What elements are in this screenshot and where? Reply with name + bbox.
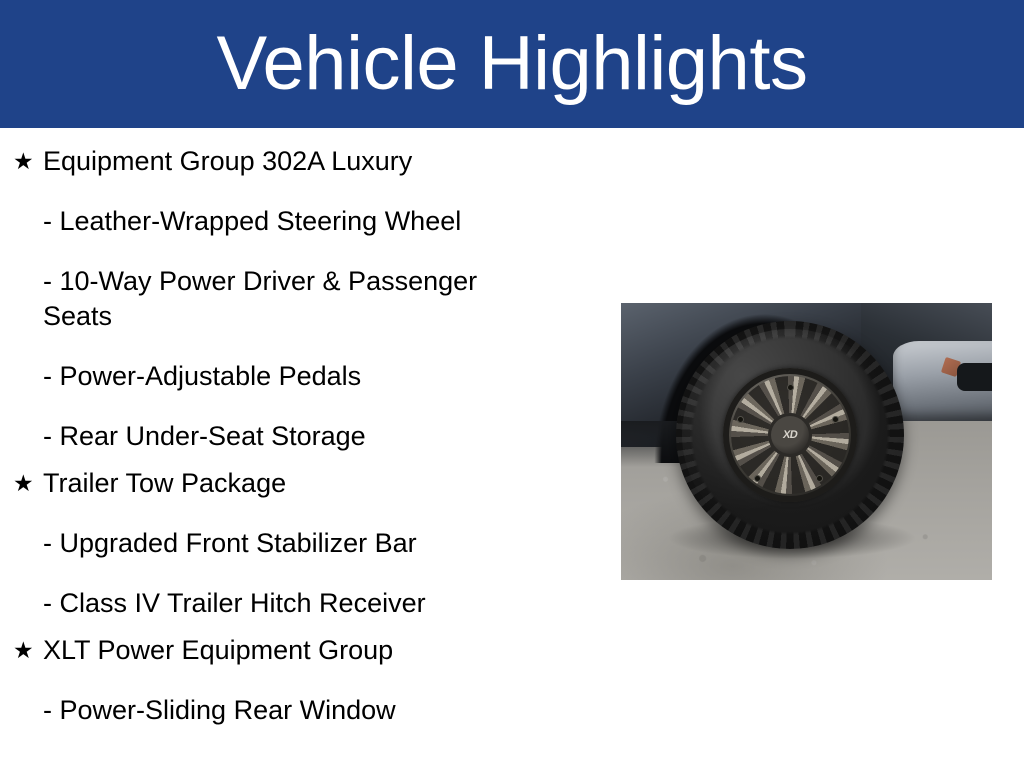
photo-content: XD (621, 303, 992, 580)
slide-canvas: Vehicle Highlights ★ Equipment Group 302… (0, 0, 1024, 768)
star-bullet-icon: ★ (13, 633, 43, 668)
list-item: - Power-Adjustable Pedals (0, 359, 575, 394)
lug-nut (787, 384, 794, 391)
list-item: ★ Equipment Group 302A Luxury (0, 144, 575, 179)
wheel-brand-logo: XD (782, 429, 798, 441)
star-bullet-icon: ★ (13, 466, 43, 501)
list-item: ★ XLT Power Equipment Group (0, 633, 575, 668)
list-item-label: - Class IV Trailer Hitch Receiver (43, 586, 541, 621)
list-item-label: - Rear Under-Seat Storage (43, 419, 541, 454)
list-item-label: XLT Power Equipment Group (43, 633, 543, 668)
list-item-label: - Power-Sliding Rear Window (43, 693, 541, 728)
list-item: - Class IV Trailer Hitch Receiver (0, 586, 575, 621)
bumper-opening (957, 363, 992, 391)
list-item-label: - Upgraded Front Stabilizer Bar (43, 526, 541, 561)
page-title: Vehicle Highlights (217, 26, 808, 102)
title-banner: Vehicle Highlights (0, 0, 1024, 128)
rim-disc: XD (723, 368, 857, 502)
vehicle-wheel-photo: XD (621, 303, 992, 580)
list-item: - Power-Sliding Rear Window (0, 693, 575, 728)
list-item: - Rear Under-Seat Storage (0, 419, 575, 454)
list-item-label: - 10-Way Power Driver & Passenger Seats (43, 264, 541, 334)
list-item-label: Trailer Tow Package (43, 466, 543, 501)
wheel-center-cap: XD (768, 413, 812, 457)
list-item-label: Equipment Group 302A Luxury (43, 144, 543, 179)
list-item-label: - Leather-Wrapped Steering Wheel (43, 204, 541, 239)
list-item: - 10-Way Power Driver & Passenger Seats (0, 264, 575, 334)
alloy-wheel: XD (676, 321, 904, 549)
highlights-list: ★ Equipment Group 302A Luxury - Leather-… (0, 128, 575, 728)
star-bullet-icon: ★ (13, 144, 43, 179)
list-item: - Leather-Wrapped Steering Wheel (0, 204, 575, 239)
list-item-label: - Power-Adjustable Pedals (43, 359, 541, 394)
list-item: ★ Trailer Tow Package (0, 466, 575, 501)
list-item: - Upgraded Front Stabilizer Bar (0, 526, 575, 561)
